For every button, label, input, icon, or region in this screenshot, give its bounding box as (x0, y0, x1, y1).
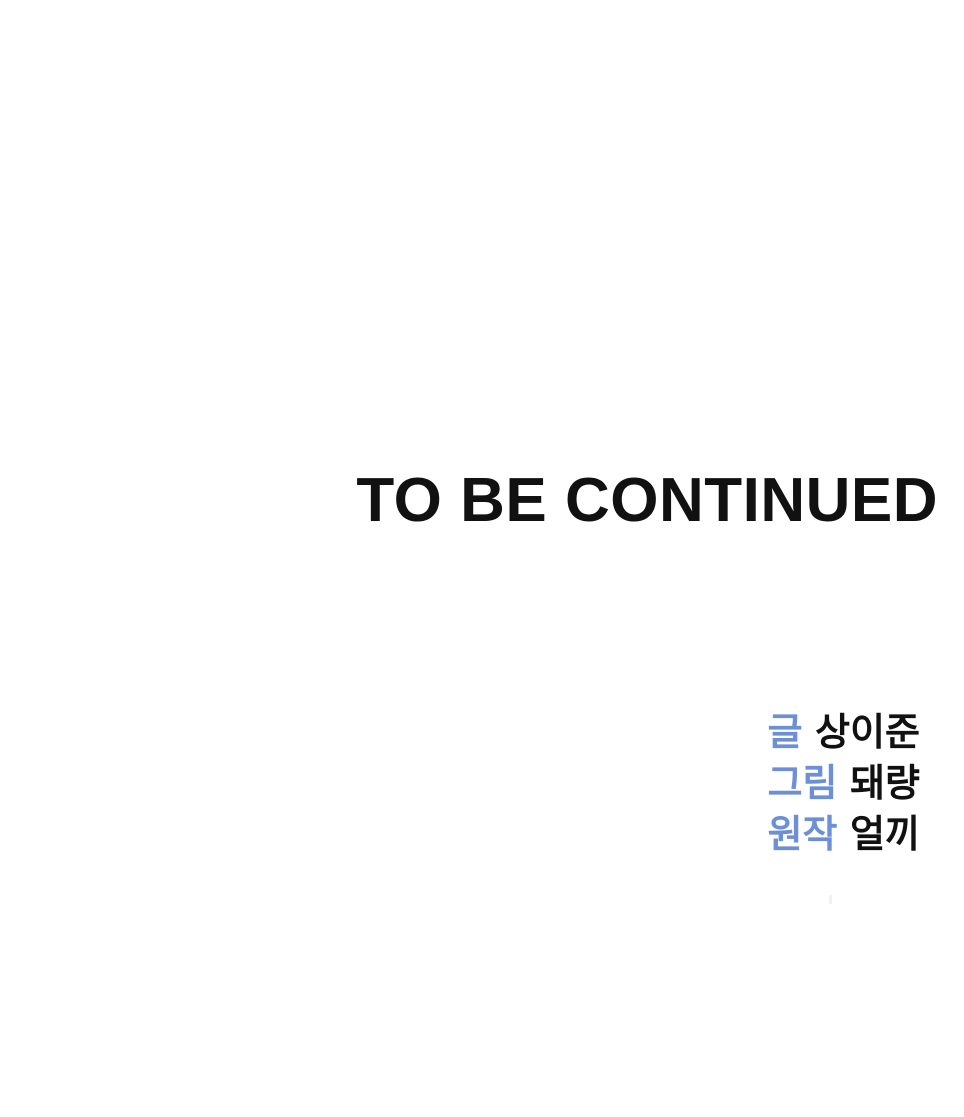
scan-artifact-speck (829, 895, 832, 904)
to-be-continued-title: TO BE CONTINUED (356, 470, 938, 532)
credit-line-writer: 글 상이준 (500, 708, 920, 759)
credit-role-artist: 그림 (768, 763, 838, 805)
comic-end-card-page: TO BE CONTINUED 글 상이준 그림 돼량 원작 얼끼 (0, 0, 964, 1117)
credit-name-artist: 돼량 (850, 763, 920, 805)
credits-block: 글 상이준 그림 돼량 원작 얼끼 (500, 708, 920, 861)
credit-role-original-author: 원작 (768, 814, 838, 856)
credit-name-original-author: 얼끼 (850, 814, 920, 856)
credit-line-artist: 그림 돼량 (500, 759, 920, 810)
credit-name-writer: 상이준 (815, 712, 920, 754)
credit-line-original-author: 원작 얼끼 (500, 810, 920, 861)
credit-role-writer: 글 (768, 712, 803, 754)
